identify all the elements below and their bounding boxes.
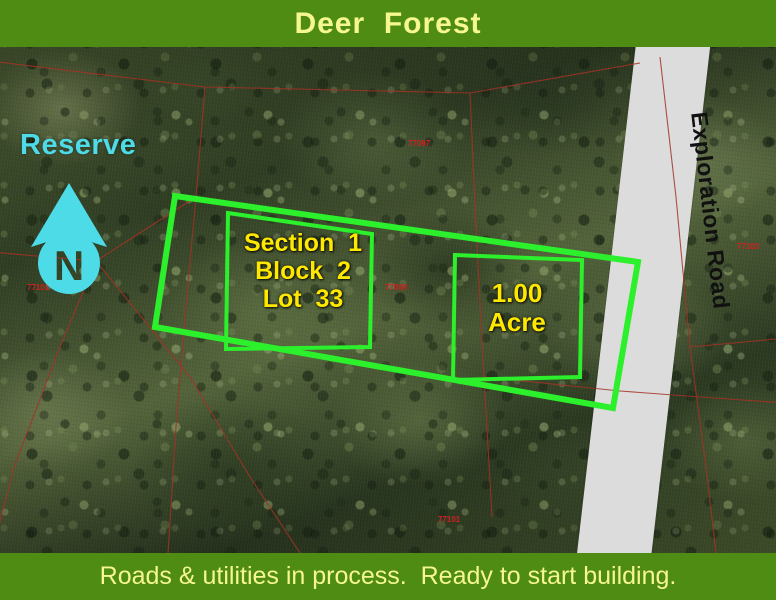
footer-banner: Roads & utilities in process. Ready to s…	[0, 553, 776, 600]
page-title: Deer Forest	[294, 9, 481, 39]
lot-listing-map-image: Deer Forest 7709877097	[0, 0, 776, 600]
reserve-label: Reserve	[20, 129, 136, 162]
acreage-label: 1.00 Acre	[452, 279, 582, 337]
footer-text: Roads & utilities in process. Ready to s…	[100, 564, 677, 589]
compass-rose: N	[27, 179, 111, 297]
aerial-map: 7709877097771027710177103 Exploration Ro…	[0, 47, 776, 553]
lot-identifier-label: Section 1 Block 2 Lot 33	[218, 229, 388, 313]
compass-circle	[38, 232, 100, 294]
title-banner: Deer Forest	[0, 0, 776, 47]
